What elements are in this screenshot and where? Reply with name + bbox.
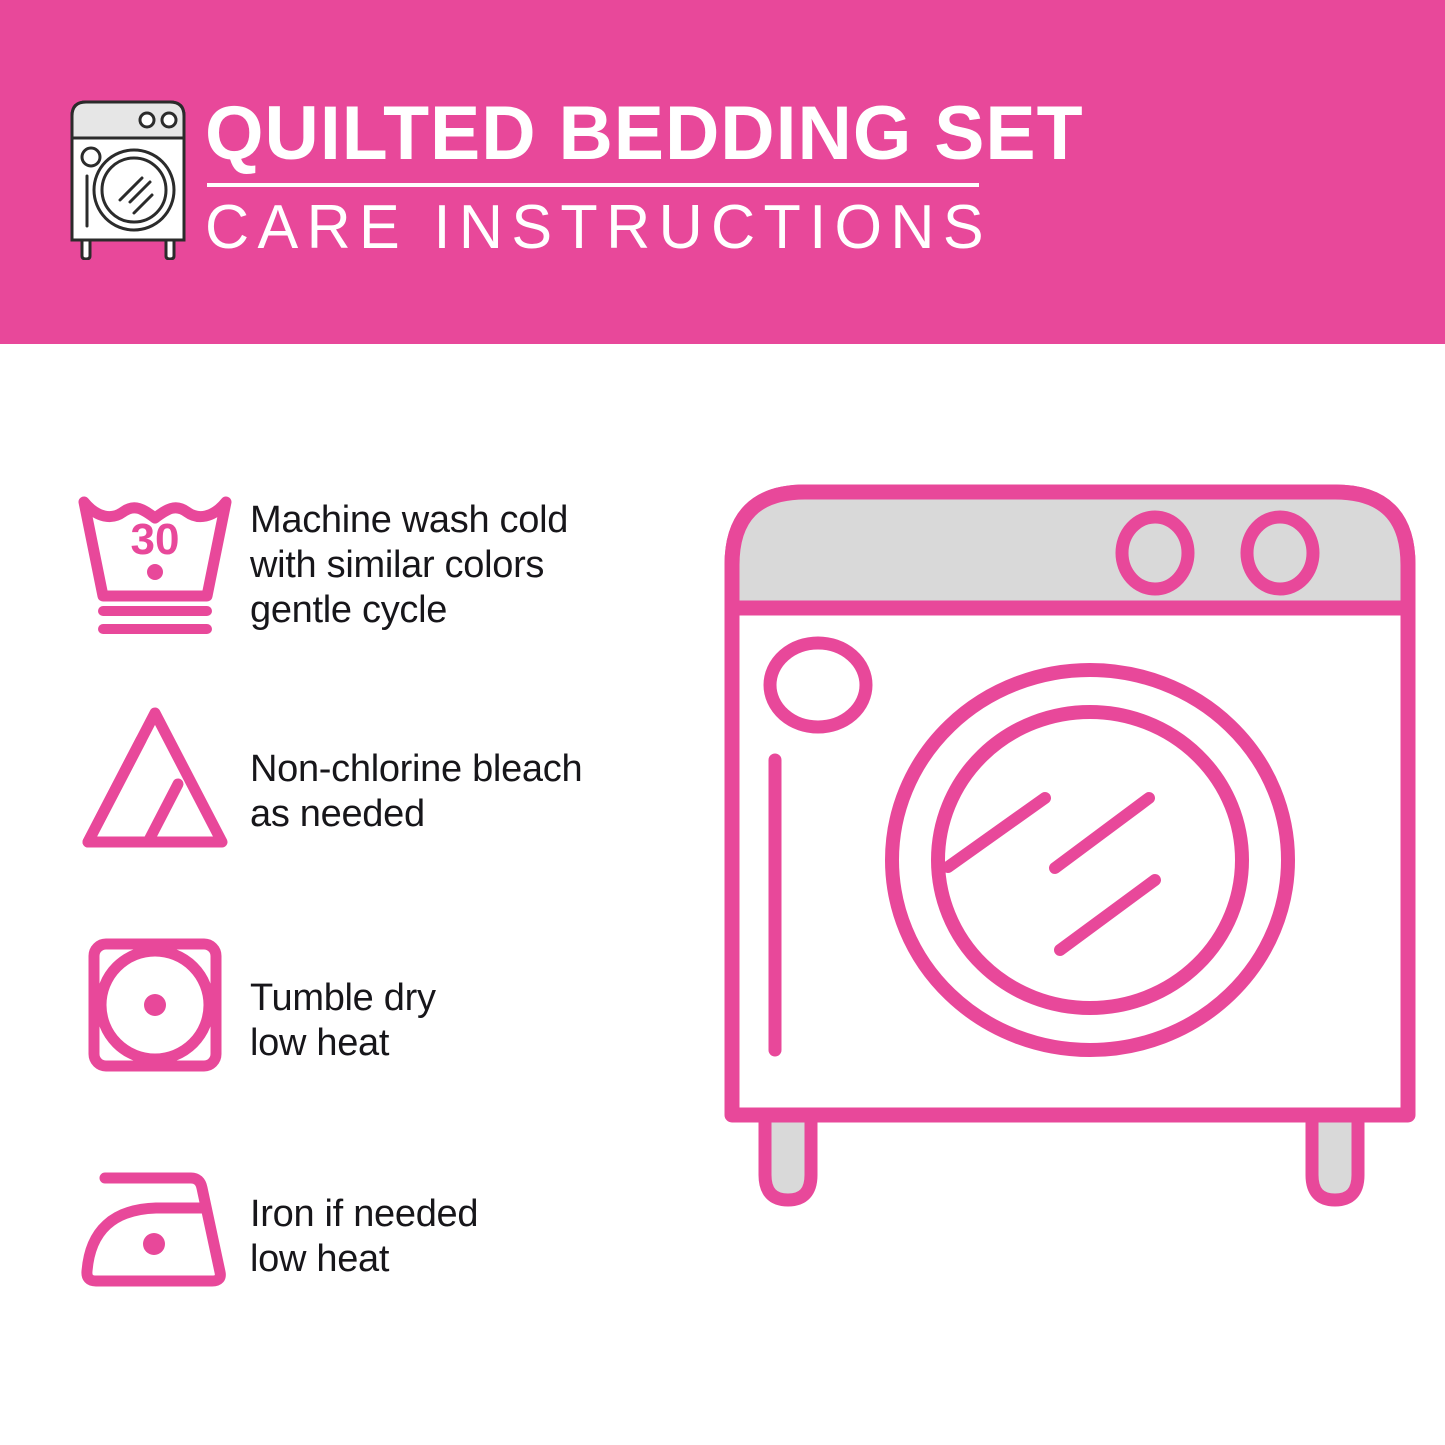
drum-inner-ring [938, 712, 1242, 1008]
care-line: gentle cycle [250, 588, 568, 633]
care-line: low heat [250, 1237, 478, 1282]
care-line: Tumble dry [250, 976, 436, 1021]
iron-low-heat-icon [60, 1144, 250, 1304]
page-title: QUILTED BEDDING SET [205, 98, 987, 171]
header-text-block: QUILTED BEDDING SET CARE INSTRUCTIONS [205, 98, 995, 259]
wash-tub-30-gentle-icon: 30 [60, 484, 250, 644]
care-row-iron: Iron if needed low heat [60, 1144, 478, 1304]
knob-right [1247, 517, 1313, 589]
care-instructions-infographic: QUILTED BEDDING SET CARE INSTRUCTIONS 30… [0, 0, 1445, 1445]
door-button [770, 643, 866, 727]
care-line: as needed [250, 792, 582, 837]
washing-machine-icon [62, 98, 194, 260]
leg-right [1312, 1110, 1358, 1200]
care-row-text-iron: Iron if needed low heat [250, 1144, 478, 1282]
care-instructions-list: 30 Machine wash cold with similar colors… [0, 344, 700, 1445]
care-row-bleach: Non-chlorine bleach as needed [60, 699, 582, 859]
knob-left [1122, 517, 1188, 589]
header-banner: QUILTED BEDDING SET CARE INSTRUCTIONS [0, 0, 1445, 344]
care-line: Non-chlorine bleach [250, 747, 582, 792]
bleach-triangle-non-chlorine-icon [60, 699, 250, 859]
tumble-dry-low-icon [60, 924, 250, 1084]
care-line: Machine wash cold [250, 498, 568, 543]
large-washing-machine-illustration [700, 460, 1440, 1400]
care-row-text-bleach: Non-chlorine bleach as needed [250, 699, 582, 837]
care-line: Iron if needed [250, 1192, 478, 1237]
care-row-tumble-dry: Tumble dry low heat [60, 924, 436, 1084]
leg-left [765, 1110, 811, 1200]
care-row-machine-wash: 30 Machine wash cold with similar colors… [60, 484, 568, 644]
care-line: low heat [250, 1021, 436, 1066]
title-divider [207, 183, 979, 187]
care-row-text-machine-wash: Machine wash cold with similar colors ge… [250, 484, 568, 632]
page-subtitle: CARE INSTRUCTIONS [205, 197, 983, 259]
care-line: with similar colors [250, 543, 568, 588]
care-row-text-tumble-dry: Tumble dry low heat [250, 924, 436, 1066]
wash-temperature-label: 30 [131, 515, 180, 564]
